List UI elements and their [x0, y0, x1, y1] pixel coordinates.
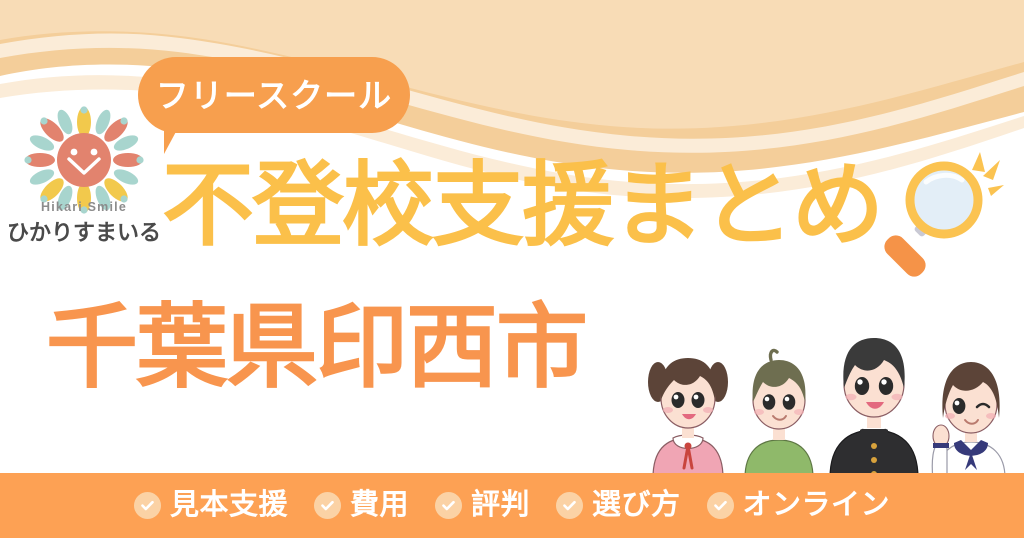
tag-item[interactable]: オンライン	[707, 491, 891, 520]
feature-tag-bar: 見本支援 費用 評判 選び方 オンライン	[0, 473, 1024, 538]
badge-label: フリースクール	[156, 79, 392, 112]
check-circle-icon	[134, 492, 161, 519]
tag-label: 費用	[350, 491, 409, 520]
banner-root: フリースクール	[0, 0, 1024, 538]
character-girl-sailor-uniform	[932, 362, 1005, 478]
character-girl-pink-shirt	[648, 358, 728, 478]
tag-label: 見本支援	[170, 491, 288, 520]
character-boy-black-gakuran	[830, 338, 918, 478]
tag-label: 選び方	[592, 491, 681, 520]
character-boy-green-shirt	[745, 350, 813, 478]
four-students-illustration	[640, 300, 1024, 478]
check-circle-icon	[435, 492, 462, 519]
tag-label: オンライン	[743, 491, 891, 520]
tag-item[interactable]: 選び方	[556, 491, 681, 520]
magnifying-glass-icon	[884, 148, 1004, 283]
logo-japanese-text: ひかりすまいる	[4, 215, 164, 247]
tag-label: 評判	[471, 491, 530, 520]
headline-line-1: 不登校支援まとめ	[162, 160, 882, 252]
headline-line-2: 千葉県印西市	[46, 302, 586, 394]
hikari-smile-logo[interactable]: Hikari Smile ひかりすまいる	[4, 106, 164, 236]
sun-smile-mandala-icon	[9, 106, 159, 214]
logo-english-text: Hikari Smile	[4, 200, 164, 214]
check-circle-icon	[314, 492, 341, 519]
check-circle-icon	[556, 492, 583, 519]
free-school-badge[interactable]: フリースクール	[138, 57, 410, 133]
tag-item[interactable]: 費用	[314, 491, 409, 520]
tag-item[interactable]: 見本支援	[134, 491, 288, 520]
tag-item[interactable]: 評判	[435, 491, 530, 520]
check-circle-icon	[707, 492, 734, 519]
